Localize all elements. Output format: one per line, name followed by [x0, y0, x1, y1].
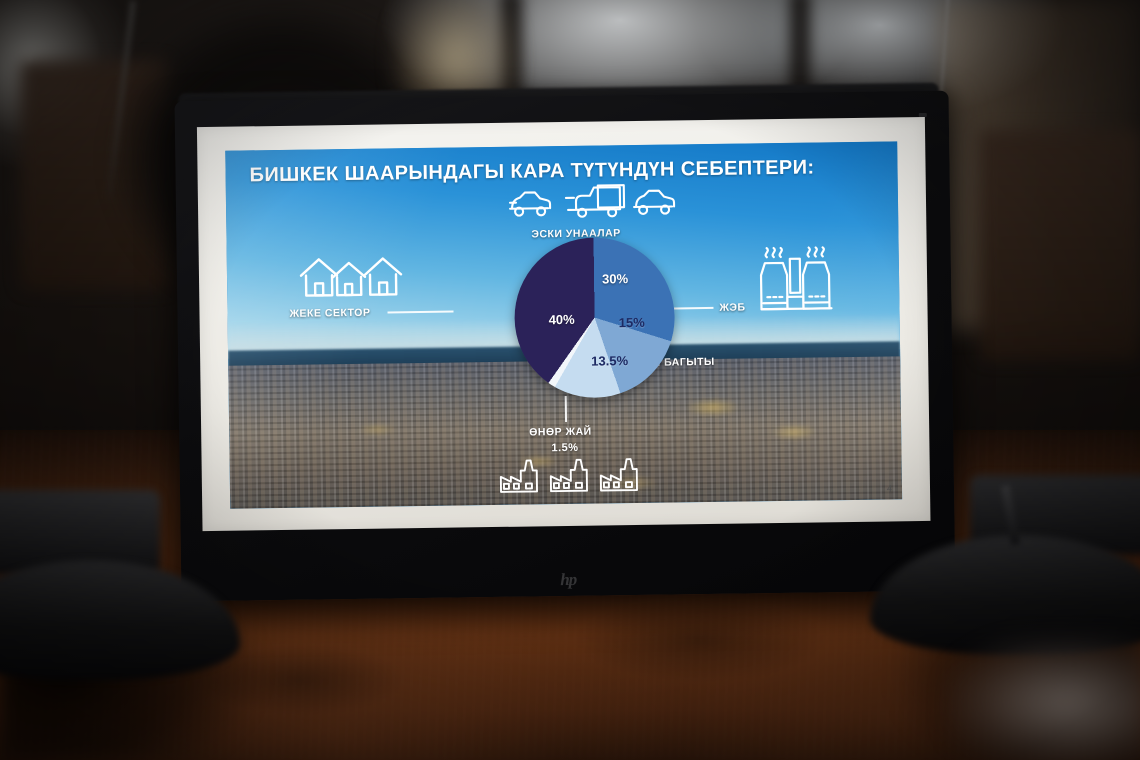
photo-scene: БИШКЕК ШААРЫНДАГЫ КАРА ТҮТҮНДҮН СЕБЕПТЕР…	[0, 0, 1140, 760]
houses-icon	[297, 250, 410, 300]
pie-disc	[513, 236, 675, 398]
pie-label-chp: 15%	[619, 315, 645, 330]
factories-icon	[498, 457, 642, 495]
slide-page-number: 4	[887, 483, 892, 493]
pie-label-wind: 13.5%	[591, 353, 628, 369]
hand-foreground	[950, 640, 1140, 760]
slide-paper-border: БИШКЕК ШААРЫНДАГЫ КАРА ТҮТҮНДҮН СЕБЕПТЕР…	[197, 117, 931, 531]
old-vehicles-icon	[502, 178, 683, 223]
callout-label-industry: ӨНӨР ЖАЙ	[529, 426, 592, 439]
power-plant-icon	[747, 240, 844, 317]
callout-value-industry: 1.5%	[551, 442, 578, 454]
presentation-slide: БИШКЕК ШААРЫНДАГЫ КАРА ТҮТҮНДҮН СЕБЕПТЕР…	[225, 141, 902, 508]
pie-label-private-sector: 40%	[549, 312, 575, 327]
leader-line-industry	[565, 396, 567, 422]
pie-label-vehicles: 30%	[602, 271, 628, 286]
pie-chart: 30% 15% 13.5% 40%	[513, 236, 675, 398]
callout-label-chp: ЖЭБ	[719, 301, 745, 313]
hp-monitor[interactable]: БИШКЕК ШААРЫНДАГЫ КАРА ТҮТҮНДҮН СЕБЕПТЕР…	[175, 91, 956, 602]
chair-far-right	[980, 130, 1140, 360]
hp-logo-icon: hp	[560, 570, 576, 590]
callout-label-private-sector: ЖЕКЕ СЕКТОР	[289, 307, 370, 320]
